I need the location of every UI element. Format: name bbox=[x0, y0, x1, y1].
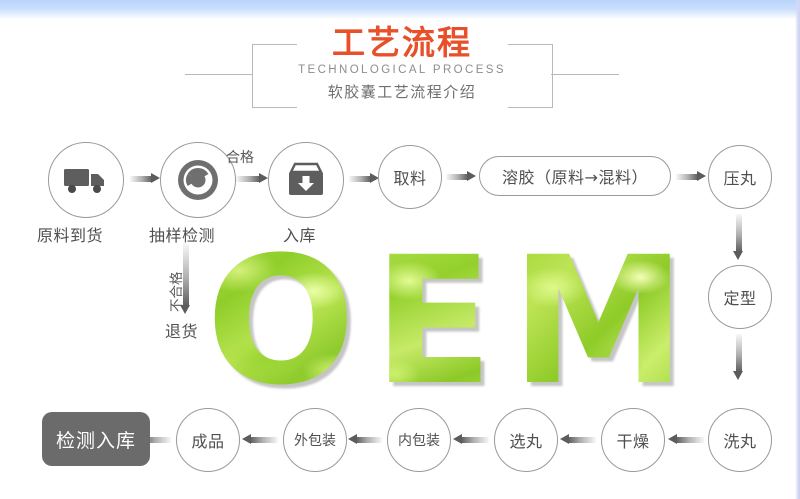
header-text-group: 工艺流程 TECHNOLOGICAL PROCESS 软胶囊工艺流程介绍 bbox=[252, 24, 552, 105]
node-material-arrival[interactable] bbox=[48, 142, 124, 218]
node-warehousing[interactable] bbox=[268, 142, 344, 218]
arrow-sampling-to-warehousing bbox=[236, 173, 268, 184]
node-sampling-inspection[interactable] bbox=[160, 142, 236, 218]
node-finished-product[interactable]: 成品 bbox=[176, 408, 240, 472]
label-drying: 干燥 bbox=[616, 428, 649, 452]
truck-icon bbox=[63, 165, 109, 195]
label-shaping: 定型 bbox=[723, 285, 756, 309]
page-title: 工艺流程 bbox=[252, 24, 552, 62]
arrow-inner-to-outer-packing bbox=[348, 434, 382, 445]
header-rule-left bbox=[185, 74, 253, 75]
arrow-arrival-to-sampling bbox=[130, 173, 160, 184]
page-subtitle-cn: 软胶囊工艺流程介绍 bbox=[252, 79, 552, 105]
arrow-take-material-to-sol-gel bbox=[446, 171, 476, 182]
node-outer-packing[interactable]: 外包装 bbox=[283, 408, 347, 472]
label-sol-gel: 溶胶（原料→混料） bbox=[502, 164, 648, 188]
node-final-inspection-warehousing[interactable]: 检测入库 bbox=[42, 412, 150, 466]
label-return: 退货 bbox=[165, 318, 198, 342]
arrow-select-pill-to-inner-packing bbox=[453, 434, 489, 445]
header-rule-right bbox=[551, 74, 619, 75]
sampling-icon bbox=[176, 158, 220, 202]
arrow-sol-gel-to-press-pill bbox=[676, 171, 706, 182]
label-wash-pill: 洗丸 bbox=[723, 428, 756, 452]
watermark-letter-m: M bbox=[511, 236, 686, 408]
node-take-material[interactable]: 取料 bbox=[378, 145, 442, 209]
node-inner-packing[interactable]: 内包装 bbox=[387, 408, 451, 472]
inbox-arrow-down-icon bbox=[285, 161, 327, 199]
arrow-fail-to-return bbox=[180, 243, 191, 315]
arrow-outer-packing-to-finished-product bbox=[242, 434, 278, 445]
node-drying[interactable]: 干燥 bbox=[601, 408, 665, 472]
label-warehousing: 入库 bbox=[283, 222, 316, 246]
arrow-press-pill-to-shaping bbox=[733, 214, 744, 260]
watermark-letter-o: O bbox=[206, 236, 356, 408]
node-sol-gel[interactable]: 溶胶（原料→混料） bbox=[479, 156, 671, 196]
label-take-material: 取料 bbox=[393, 165, 426, 189]
arrow-drying-to-select-pill bbox=[560, 434, 596, 445]
process-flow-infographic: 工艺流程 TECHNOLOGICAL PROCESS 软胶囊工艺流程介绍 O E… bbox=[0, 0, 800, 499]
watermark-letter-e: E bbox=[373, 236, 493, 408]
arrow-warehousing-to-take-material bbox=[349, 173, 379, 184]
page-subtitle-en: TECHNOLOGICAL PROCESS bbox=[252, 62, 552, 79]
label-press-pill: 压丸 bbox=[723, 165, 756, 189]
node-shaping[interactable]: 定型 bbox=[708, 265, 772, 329]
top-blue-band bbox=[0, 0, 800, 19]
label-final-inspection-warehousing: 检测入库 bbox=[56, 426, 136, 453]
node-wash-pill[interactable]: 洗丸 bbox=[708, 408, 772, 472]
label-finished-product: 成品 bbox=[191, 428, 224, 452]
node-press-pill[interactable]: 压丸 bbox=[708, 145, 772, 209]
arrow-shaping-to-wash-pill bbox=[733, 334, 744, 380]
label-pass: 合格 bbox=[226, 147, 254, 167]
label-material-arrival: 原料到货 bbox=[37, 222, 103, 246]
node-select-pill[interactable]: 选丸 bbox=[494, 408, 558, 472]
oem-watermark: O E M bbox=[206, 236, 686, 408]
label-select-pill: 选丸 bbox=[509, 428, 542, 452]
header: 工艺流程 TECHNOLOGICAL PROCESS 软胶囊工艺流程介绍 bbox=[0, 18, 800, 118]
arrow-wash-pill-to-drying bbox=[668, 434, 704, 445]
label-outer-packing: 外包装 bbox=[294, 430, 336, 450]
label-inner-packing: 内包装 bbox=[398, 430, 440, 450]
